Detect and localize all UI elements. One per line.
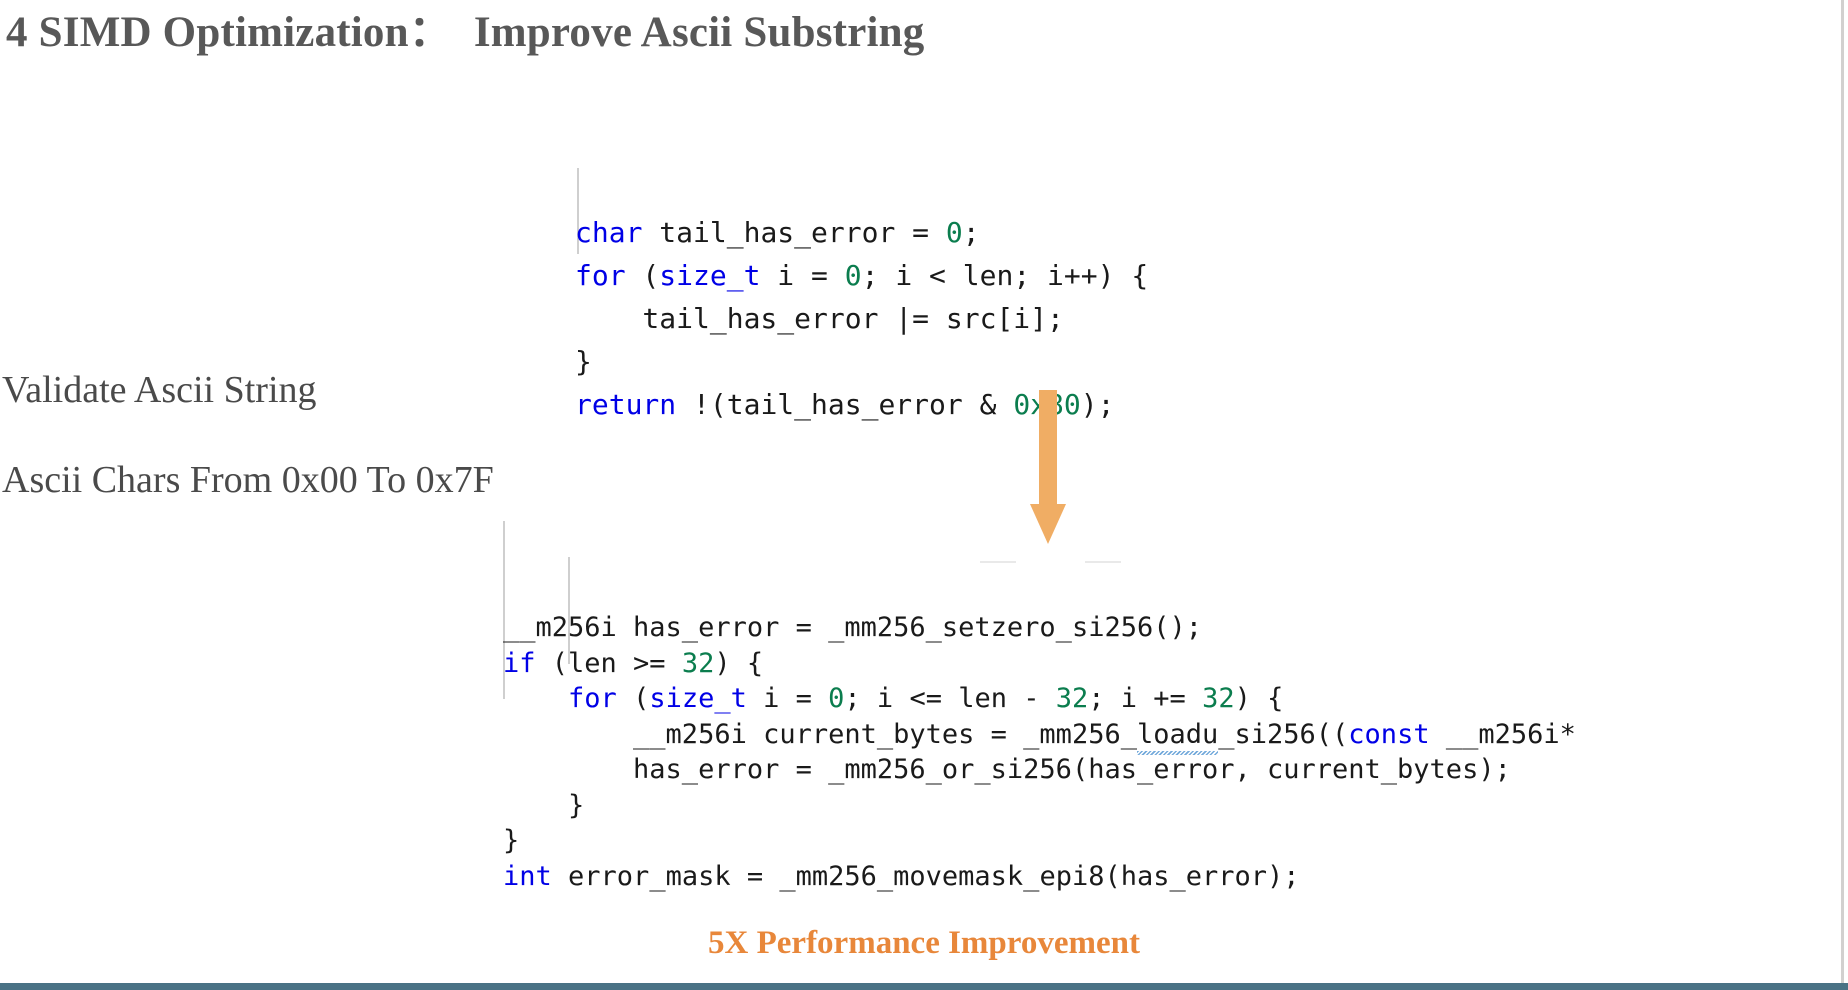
code-token: int	[503, 861, 552, 892]
code-token: ;	[963, 216, 980, 249]
code-token: __m256i current_bytes = _mm256_	[503, 719, 1137, 750]
code-token: _si256((	[1218, 719, 1348, 750]
code-token: __m256i*	[1430, 719, 1576, 750]
code-token: const	[1348, 719, 1429, 750]
right-edge-rule	[1841, 0, 1844, 984]
code-line: for (size_t i = 0; i < len; i++) {	[575, 254, 1148, 297]
code-token: 32	[682, 648, 715, 679]
code-line: int error_mask = _mm256_movemask_epi8(ha…	[503, 859, 1576, 895]
code-token: i =	[747, 683, 828, 714]
code-line: __m256i current_bytes = _mm256_loadu_si2…	[503, 717, 1576, 753]
slide-canvas: 4 SIMD Optimization： Improve Ascii Subst…	[0, 0, 1848, 990]
code-token: for	[568, 683, 617, 714]
code-token: if	[503, 648, 536, 679]
code-token: error_mask = _mm256_movemask_epi8(has_er…	[552, 861, 1300, 892]
code-token: 32	[1202, 683, 1235, 714]
code-token: __m256i has_error = _mm256_setzero_si256…	[503, 612, 1202, 643]
code-block-simd: __m256i has_error = _mm256_setzero_si256…	[503, 468, 1576, 894]
code-token: tail_has_error =	[642, 216, 945, 249]
code-line: for (size_t i = 0; i <= len - 32; i += 3…	[503, 681, 1576, 717]
code-token: 0	[946, 216, 963, 249]
code-line: __m256i has_error = _mm256_setzero_si256…	[503, 610, 1576, 646]
code-token: size_t	[659, 259, 760, 292]
code-token: 0	[845, 259, 862, 292]
code-token: 0	[828, 683, 844, 714]
performance-caption: 5X Performance Improvement	[0, 925, 1848, 962]
code-token: tail_has_error |= src[i];	[575, 302, 1064, 335]
code-block-scalar: char tail_has_error = 0;for (size_t i = …	[575, 82, 1148, 426]
code-token: size_t	[649, 683, 747, 714]
code-token: }	[503, 825, 519, 856]
code-token: i =	[760, 259, 844, 292]
code-line: if (len >= 32) {	[503, 646, 1576, 682]
label-validate-ascii-string: Validate Ascii String	[2, 370, 317, 412]
code-token: }	[503, 790, 584, 821]
code-line: }	[575, 340, 1148, 383]
code-line: char tail_has_error = 0;	[575, 211, 1148, 254]
code-token-error: loadu	[1137, 717, 1218, 753]
page-title: 4 SIMD Optimization： Improve Ascii Subst…	[6, 8, 924, 57]
code-token: 32	[1056, 683, 1089, 714]
code-token	[503, 683, 568, 714]
code-token: ; i < len; i++) {	[862, 259, 1149, 292]
code-token: ) {	[714, 648, 763, 679]
code-token: has_error = _mm256_or_si256(has_error, c…	[503, 754, 1511, 785]
code-token: return	[575, 388, 676, 421]
code-token: (	[617, 683, 650, 714]
code-token: ; i <= len -	[844, 683, 1055, 714]
code-line: has_error = _mm256_or_si256(has_error, c…	[503, 752, 1576, 788]
code-token: (len >=	[536, 648, 682, 679]
code-token: for	[575, 259, 626, 292]
code-token: );	[1081, 388, 1115, 421]
code-line: tail_has_error |= src[i];	[575, 297, 1148, 340]
label-ascii-char-range: Ascii Chars From 0x00 To 0x7F	[2, 460, 494, 502]
code-token: !(tail_has_error &	[676, 388, 1013, 421]
code-line: }	[503, 788, 1576, 824]
code-token: }	[575, 345, 592, 378]
code-line: }	[503, 823, 1576, 859]
code-token: ; i +=	[1088, 683, 1202, 714]
bottom-status-bar	[0, 983, 1848, 990]
code-token: (	[626, 259, 660, 292]
code-token: ) {	[1235, 683, 1284, 714]
code-token: char	[575, 216, 642, 249]
